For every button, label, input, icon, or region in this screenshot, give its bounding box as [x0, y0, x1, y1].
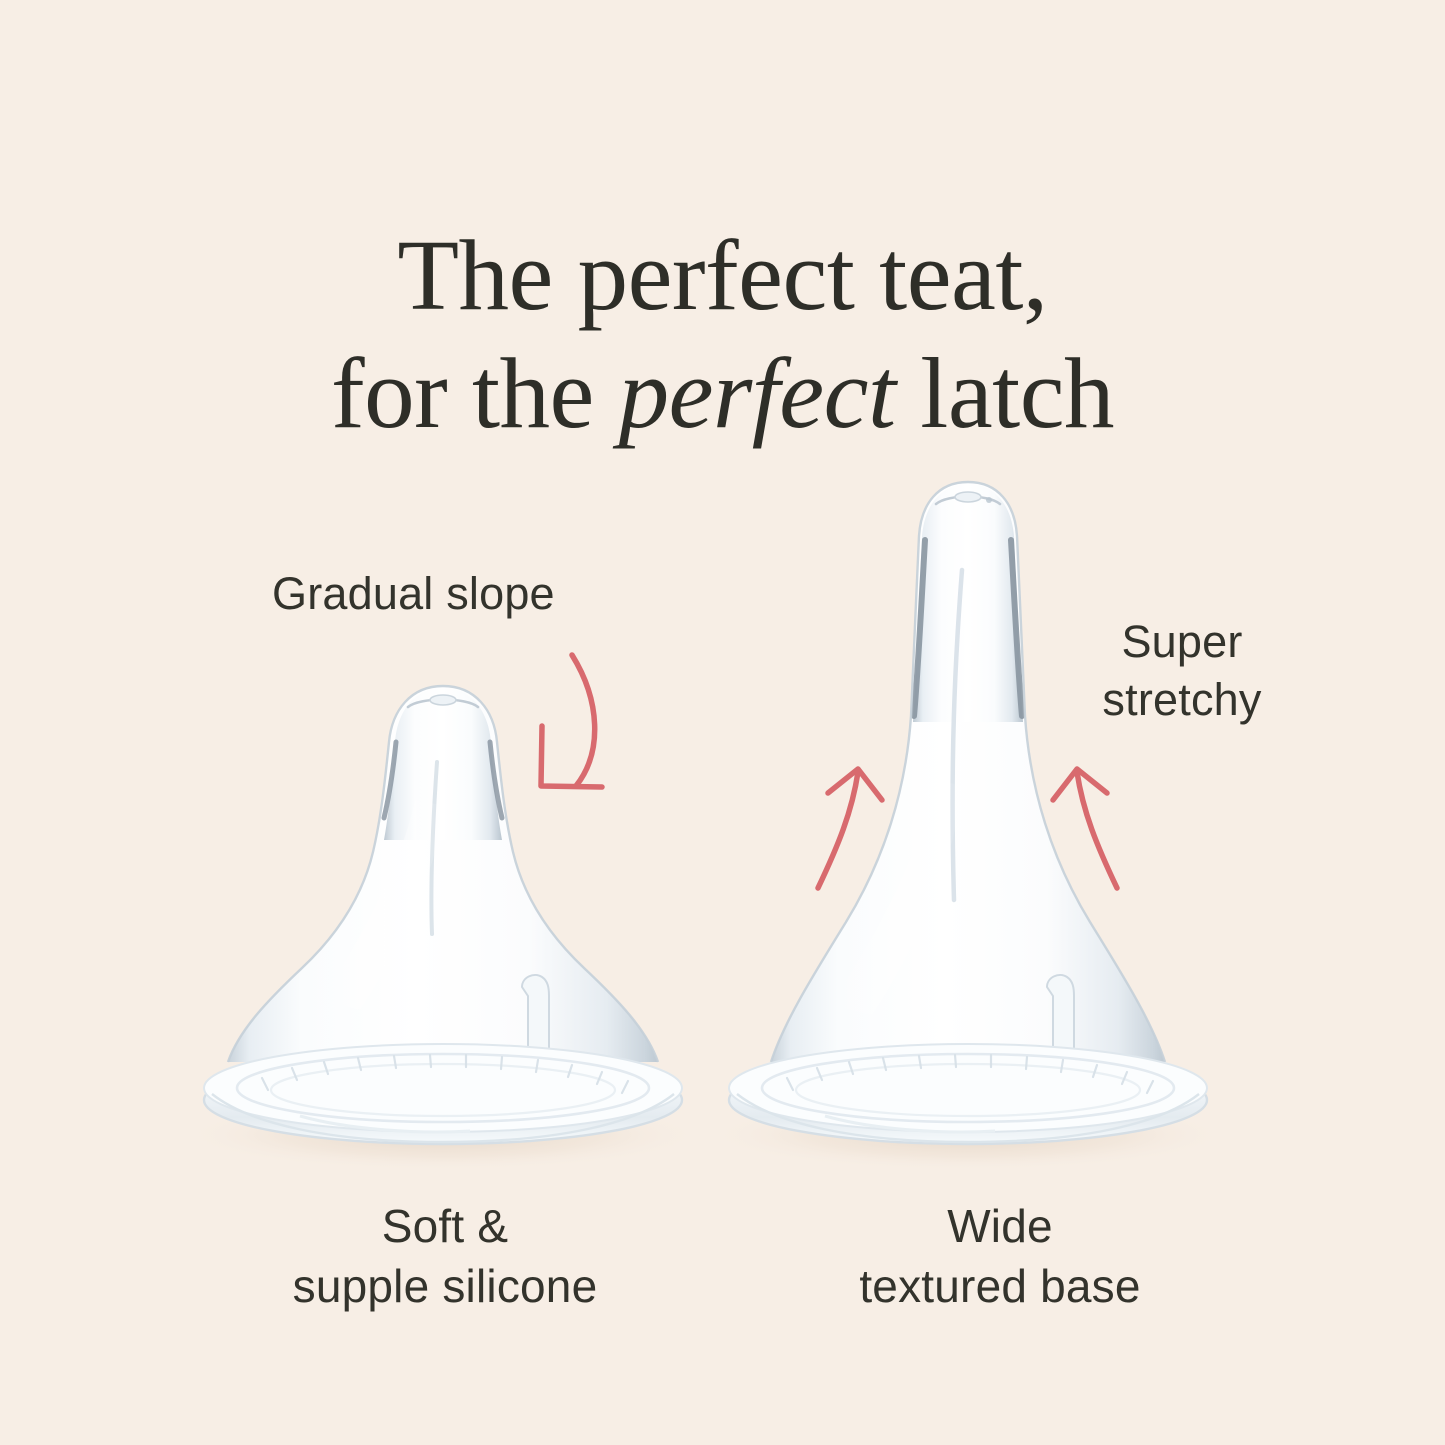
teat-relaxed-nipple-dome	[384, 688, 502, 840]
callout-super-stretchy-line-1: Super	[1060, 613, 1304, 671]
caption-soft-supple-silicone: Soft & supple silicone	[180, 1197, 710, 1317]
teat-stretched-base-ring	[729, 1044, 1207, 1144]
teat-stretched-shadow	[706, 1099, 1230, 1171]
teat-relaxed-refraction-right	[490, 742, 502, 818]
teat-stretched-nipple	[913, 484, 1023, 722]
teat-stretched-gloss	[830, 780, 964, 1015]
teat-relaxed-outline-right	[443, 686, 658, 1062]
teat-relaxed-body	[228, 686, 658, 1062]
teat-relaxed-base-ring	[204, 1044, 682, 1144]
callout-gradual-slope: Gradual slope	[272, 567, 555, 621]
teat-relaxed-gloss	[320, 800, 446, 1010]
teat-stretched-center-crease	[953, 570, 962, 900]
caption-right-line-2: textured base	[735, 1257, 1265, 1317]
teat-stretched-outline-right	[968, 482, 1165, 1062]
teat-stretched-outline-left	[771, 482, 968, 1062]
headline-line-2-after: latch	[896, 337, 1115, 449]
curved-arrow-up-left-icon	[1053, 769, 1117, 888]
callout-super-stretchy-line-2: stretchy	[1060, 671, 1304, 729]
teat-stretched-body	[771, 482, 1165, 1062]
teat-stretched-illustration	[706, 482, 1230, 1171]
curved-arrow-up-right-icon	[818, 769, 882, 888]
headline-line-2-before: for the	[331, 337, 619, 449]
caption-right-line-1: Wide	[735, 1197, 1265, 1257]
headline-line-1: The perfect teat,	[0, 216, 1445, 334]
teat-relaxed-refraction-left	[384, 742, 396, 818]
caption-left-line-1: Soft &	[180, 1197, 710, 1257]
infographic-canvas: The perfect teat, for the perfect latch	[0, 0, 1445, 1445]
caption-left-line-2: supple silicone	[180, 1257, 710, 1317]
curved-arrow-down-left-icon	[541, 655, 602, 787]
teat-stretched-tip-seam	[936, 497, 1000, 505]
teat-relaxed-vent-hole	[430, 695, 456, 705]
teat-relaxed-vent-tab	[522, 975, 549, 1068]
headline-line-2: for the perfect latch	[0, 334, 1445, 452]
teat-stretched-vent-tab	[1047, 975, 1074, 1068]
teat-relaxed-outline	[228, 686, 443, 1062]
caption-wide-textured-base: Wide textured base	[735, 1197, 1265, 1317]
teat-stretched-refraction-right	[1011, 540, 1022, 716]
page-headline: The perfect teat, for the perfect latch	[0, 216, 1445, 452]
teat-stretched-refraction-left	[914, 540, 925, 716]
headline-emphasis: perfect	[619, 337, 896, 449]
teat-relaxed-shadow	[181, 1099, 705, 1171]
teat-relaxed-illustration	[181, 686, 705, 1171]
teat-relaxed-tip-seam	[408, 700, 478, 708]
teat-relaxed-center-crease	[431, 762, 437, 934]
callout-super-stretchy: Super stretchy	[1060, 613, 1304, 728]
teat-stretched-vent-hole	[955, 492, 981, 502]
